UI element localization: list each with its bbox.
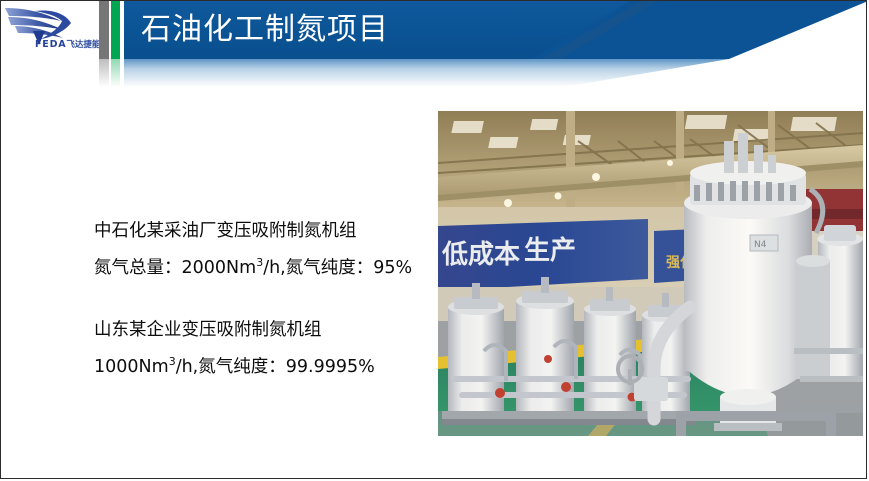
paragraph-2: 山东某企业变压吸附制氮机组 1000Nm3/h,氮气纯度：99.9995% [94, 314, 434, 383]
reflection-blue-shape [124, 59, 867, 87]
p2-l2-superscript: 3 [169, 355, 176, 368]
paragraph-1-line-2: 氮气总量：2000Nm3/h,氮气纯度：95% [94, 247, 434, 284]
body-text: 中石化某采油厂变压吸附制氮机组 氮气总量：2000Nm3/h,氮气纯度：95% … [94, 215, 434, 383]
logo-brand-latin: FEDA [35, 39, 66, 50]
logo-wordmark: FEDA飞达捷能 [35, 38, 100, 50]
slide-root: FEDA飞达捷能 石油化工制氮项目 中石化某采油厂变压吸附制氮机组 氮气总量：2… [0, 0, 867, 479]
p1-l2-prefix: 氮气总量：2000Nm [94, 258, 256, 278]
p1-l2-suffix: /h,氮气纯度：95% [263, 258, 412, 278]
reflection-gray-bar [99, 59, 109, 87]
paragraph-1: 中石化某采油厂变压吸附制氮机组 氮气总量：2000Nm3/h,氮气纯度：95% [94, 215, 434, 284]
paragraph-1-line-1: 中石化某采油厂变压吸附制氮机组 [94, 215, 434, 247]
psa-nitrogen-plant-photo: 低成本 生产 强化 [438, 111, 863, 436]
title-band: 石油化工制氮项目 [99, 1, 867, 59]
p2-l2-suffix: /h,氮气纯度：99.9995% [176, 357, 375, 377]
title-green-bar [111, 1, 120, 59]
paragraph-2-line-2: 1000Nm3/h,氮气纯度：99.9995% [94, 346, 434, 383]
reflection-green-bar [111, 59, 120, 87]
logo-brand-cn: 飞达捷能 [66, 40, 100, 50]
paragraph-2-line-1: 山东某企业变压吸附制氮机组 [94, 314, 434, 346]
p2-l2-prefix: 1000Nm [94, 357, 169, 377]
title-reflection [99, 59, 867, 87]
page-title: 石油化工制氮项目 [141, 7, 389, 53]
title-gray-bar [99, 1, 109, 59]
